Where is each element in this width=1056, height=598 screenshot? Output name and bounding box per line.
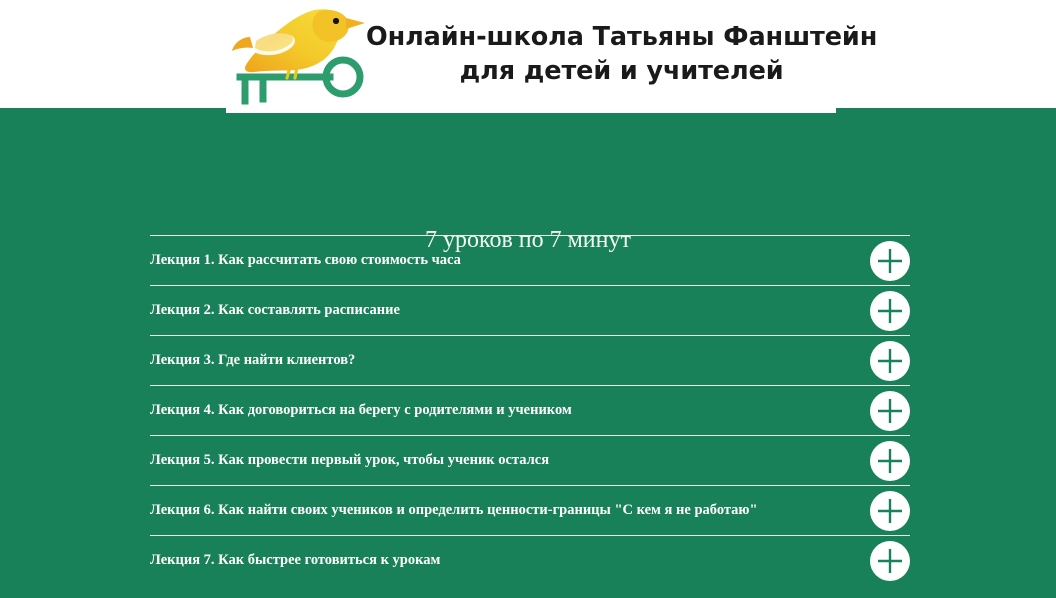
- accordion-item-label: Лекция 5. Как провести первый урок, чтоб…: [150, 452, 549, 469]
- accordion-item[interactable]: Лекция 1. Как рассчитать свою стоимость …: [150, 235, 910, 285]
- accordion-item[interactable]: Лекция 4. Как договориться на берегу с р…: [150, 385, 910, 435]
- plus-circle-icon[interactable]: [870, 441, 910, 481]
- logo-wordmark: Онлайн-школа Татьяны Фанштейн для детей …: [366, 21, 883, 92]
- accordion-header[interactable]: Лекция 5. Как провести первый урок, чтоб…: [150, 436, 910, 485]
- bird-on-key-logo-icon: [226, 3, 366, 111]
- accordion-item-label: Лекция 6. Как найти своих учеников и опр…: [150, 502, 758, 519]
- accordion-item[interactable]: Лекция 5. Как провести первый урок, чтоб…: [150, 435, 910, 485]
- plus-circle-icon[interactable]: [870, 291, 910, 331]
- accordion-item[interactable]: Лекция 2. Как составлять расписание: [150, 285, 910, 335]
- site-header: Онлайн-школа Татьяны Фанштейн для детей …: [0, 0, 1056, 108]
- accordion-header[interactable]: Лекция 2. Как составлять расписание: [150, 286, 910, 335]
- plus-circle-icon[interactable]: [870, 541, 910, 581]
- logo-panel[interactable]: Онлайн-школа Татьяны Фанштейн для детей …: [226, 0, 836, 113]
- accordion-header[interactable]: Лекция 3. Где найти клиентов?: [150, 336, 910, 385]
- accordion-item[interactable]: Лекция 7. Как быстрее готовиться к урока…: [150, 535, 910, 585]
- accordion-item-label: Лекция 3. Где найти клиентов?: [150, 352, 355, 369]
- accordion-item-label: Лекция 7. Как быстрее готовиться к урока…: [150, 552, 440, 569]
- accordion-item[interactable]: Лекция 3. Где найти клиентов?: [150, 335, 910, 385]
- logo-line-2: для детей и учителей: [366, 55, 877, 89]
- accordion-item-label: Лекция 2. Как составлять расписание: [150, 302, 400, 319]
- plus-circle-icon[interactable]: [870, 341, 910, 381]
- accordion-item-label: Лекция 1. Как рассчитать свою стоимость …: [150, 252, 461, 269]
- lecture-accordion: Лекция 1. Как рассчитать свою стоимость …: [150, 235, 910, 585]
- plus-circle-icon[interactable]: [870, 391, 910, 431]
- page-body: 7 уроков по 7 минут Лекция 1. Как рассчи…: [0, 108, 1056, 598]
- accordion-item[interactable]: Лекция 6. Как найти своих учеников и опр…: [150, 485, 910, 535]
- accordion-header[interactable]: Лекция 1. Как рассчитать свою стоимость …: [150, 236, 910, 285]
- logo-line-1: Онлайн-школа Татьяны Фанштейн: [366, 21, 877, 55]
- plus-circle-icon[interactable]: [870, 491, 910, 531]
- accordion-item-label: Лекция 4. Как договориться на берегу с р…: [150, 402, 572, 419]
- accordion-header[interactable]: Лекция 7. Как быстрее готовиться к урока…: [150, 536, 910, 585]
- accordion-header[interactable]: Лекция 6. Как найти своих учеников и опр…: [150, 486, 910, 535]
- accordion-header[interactable]: Лекция 4. Как договориться на берегу с р…: [150, 386, 910, 435]
- plus-circle-icon[interactable]: [870, 241, 910, 281]
